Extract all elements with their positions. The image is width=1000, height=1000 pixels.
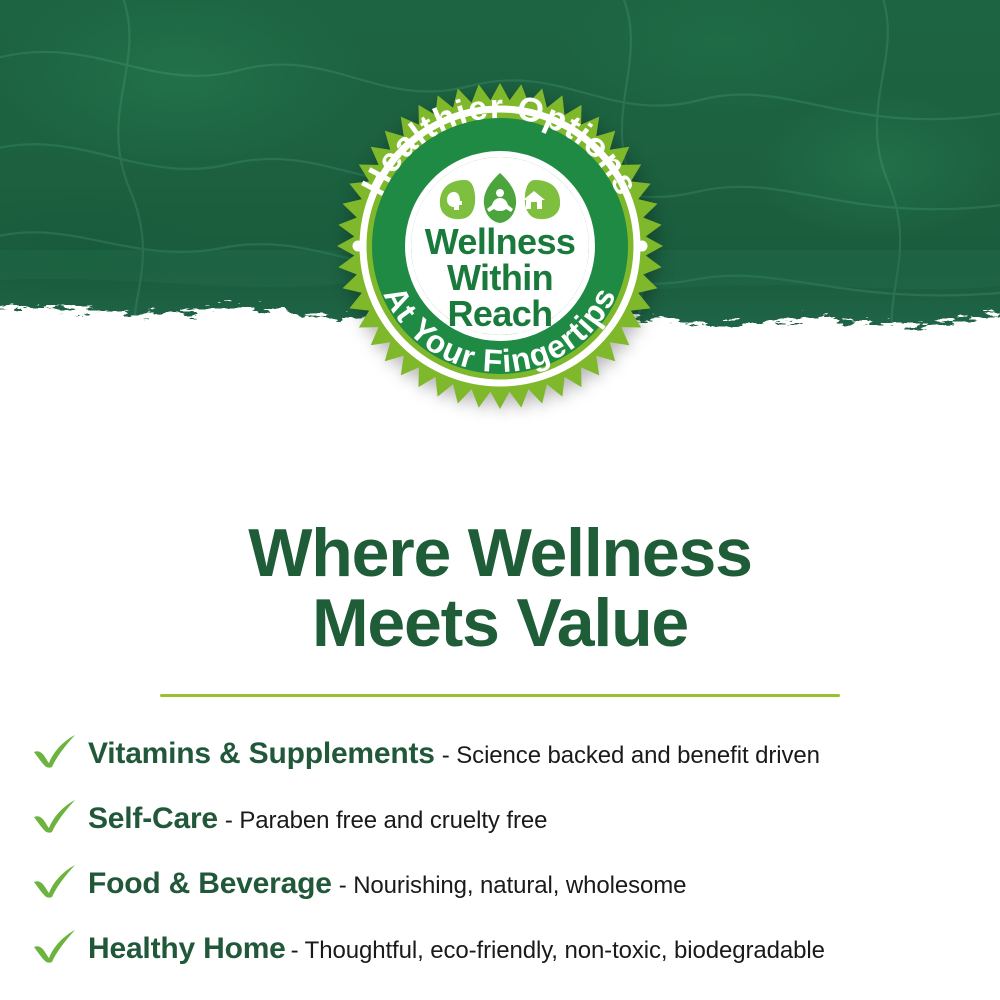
list-item-title: Self-Care — [88, 802, 218, 836]
check-icon — [30, 863, 82, 899]
list-item-description: - Thoughtful, eco-friendly, non-toxic, b… — [291, 937, 825, 965]
page-title: Where Wellness Meets Value — [0, 410, 1000, 658]
list-item: Food & Beverage - Nourishing, natural, w… — [30, 857, 978, 901]
benefits-list: Vitamins & Supplements - Science backed … — [0, 727, 1000, 966]
badge-center-line-2: Within — [447, 257, 553, 298]
list-item: Vitamins & Supplements - Science backed … — [30, 727, 978, 771]
page-title-line-2: Meets Value — [0, 588, 1000, 658]
wellness-badge: Healthier Options At Your Fingertips — [334, 80, 666, 412]
badge-center-line-1: Wellness — [425, 221, 576, 262]
check-icon — [30, 733, 82, 769]
main-content: Where Wellness Meets Value Vitamins & Su… — [0, 410, 1000, 1000]
badge-separator-dot-left — [353, 241, 364, 252]
check-icon — [30, 928, 82, 964]
list-item-description: - Nourishing, natural, wholesome — [339, 872, 687, 900]
badge-separator-dot-right — [637, 241, 648, 252]
badge-center-line-3: Reach — [447, 293, 552, 334]
section-divider — [160, 694, 840, 697]
wellness-badge-svg: Healthier Options At Your Fingertips — [334, 80, 666, 412]
list-item-title: Vitamins & Supplements — [88, 737, 435, 771]
list-item: Self-Care - Paraben free and cruelty fre… — [30, 792, 978, 836]
list-item: Healthy Home - Thoughtful, eco-friendly,… — [30, 922, 978, 966]
list-item-description: - Science backed and benefit driven — [442, 742, 820, 770]
list-item-description: - Paraben free and cruelty free — [225, 807, 547, 835]
check-icon — [30, 798, 82, 834]
list-item-title: Food & Beverage — [88, 867, 332, 901]
list-item-title: Healthy Home — [88, 932, 286, 966]
page-title-line-1: Where Wellness — [0, 518, 1000, 588]
